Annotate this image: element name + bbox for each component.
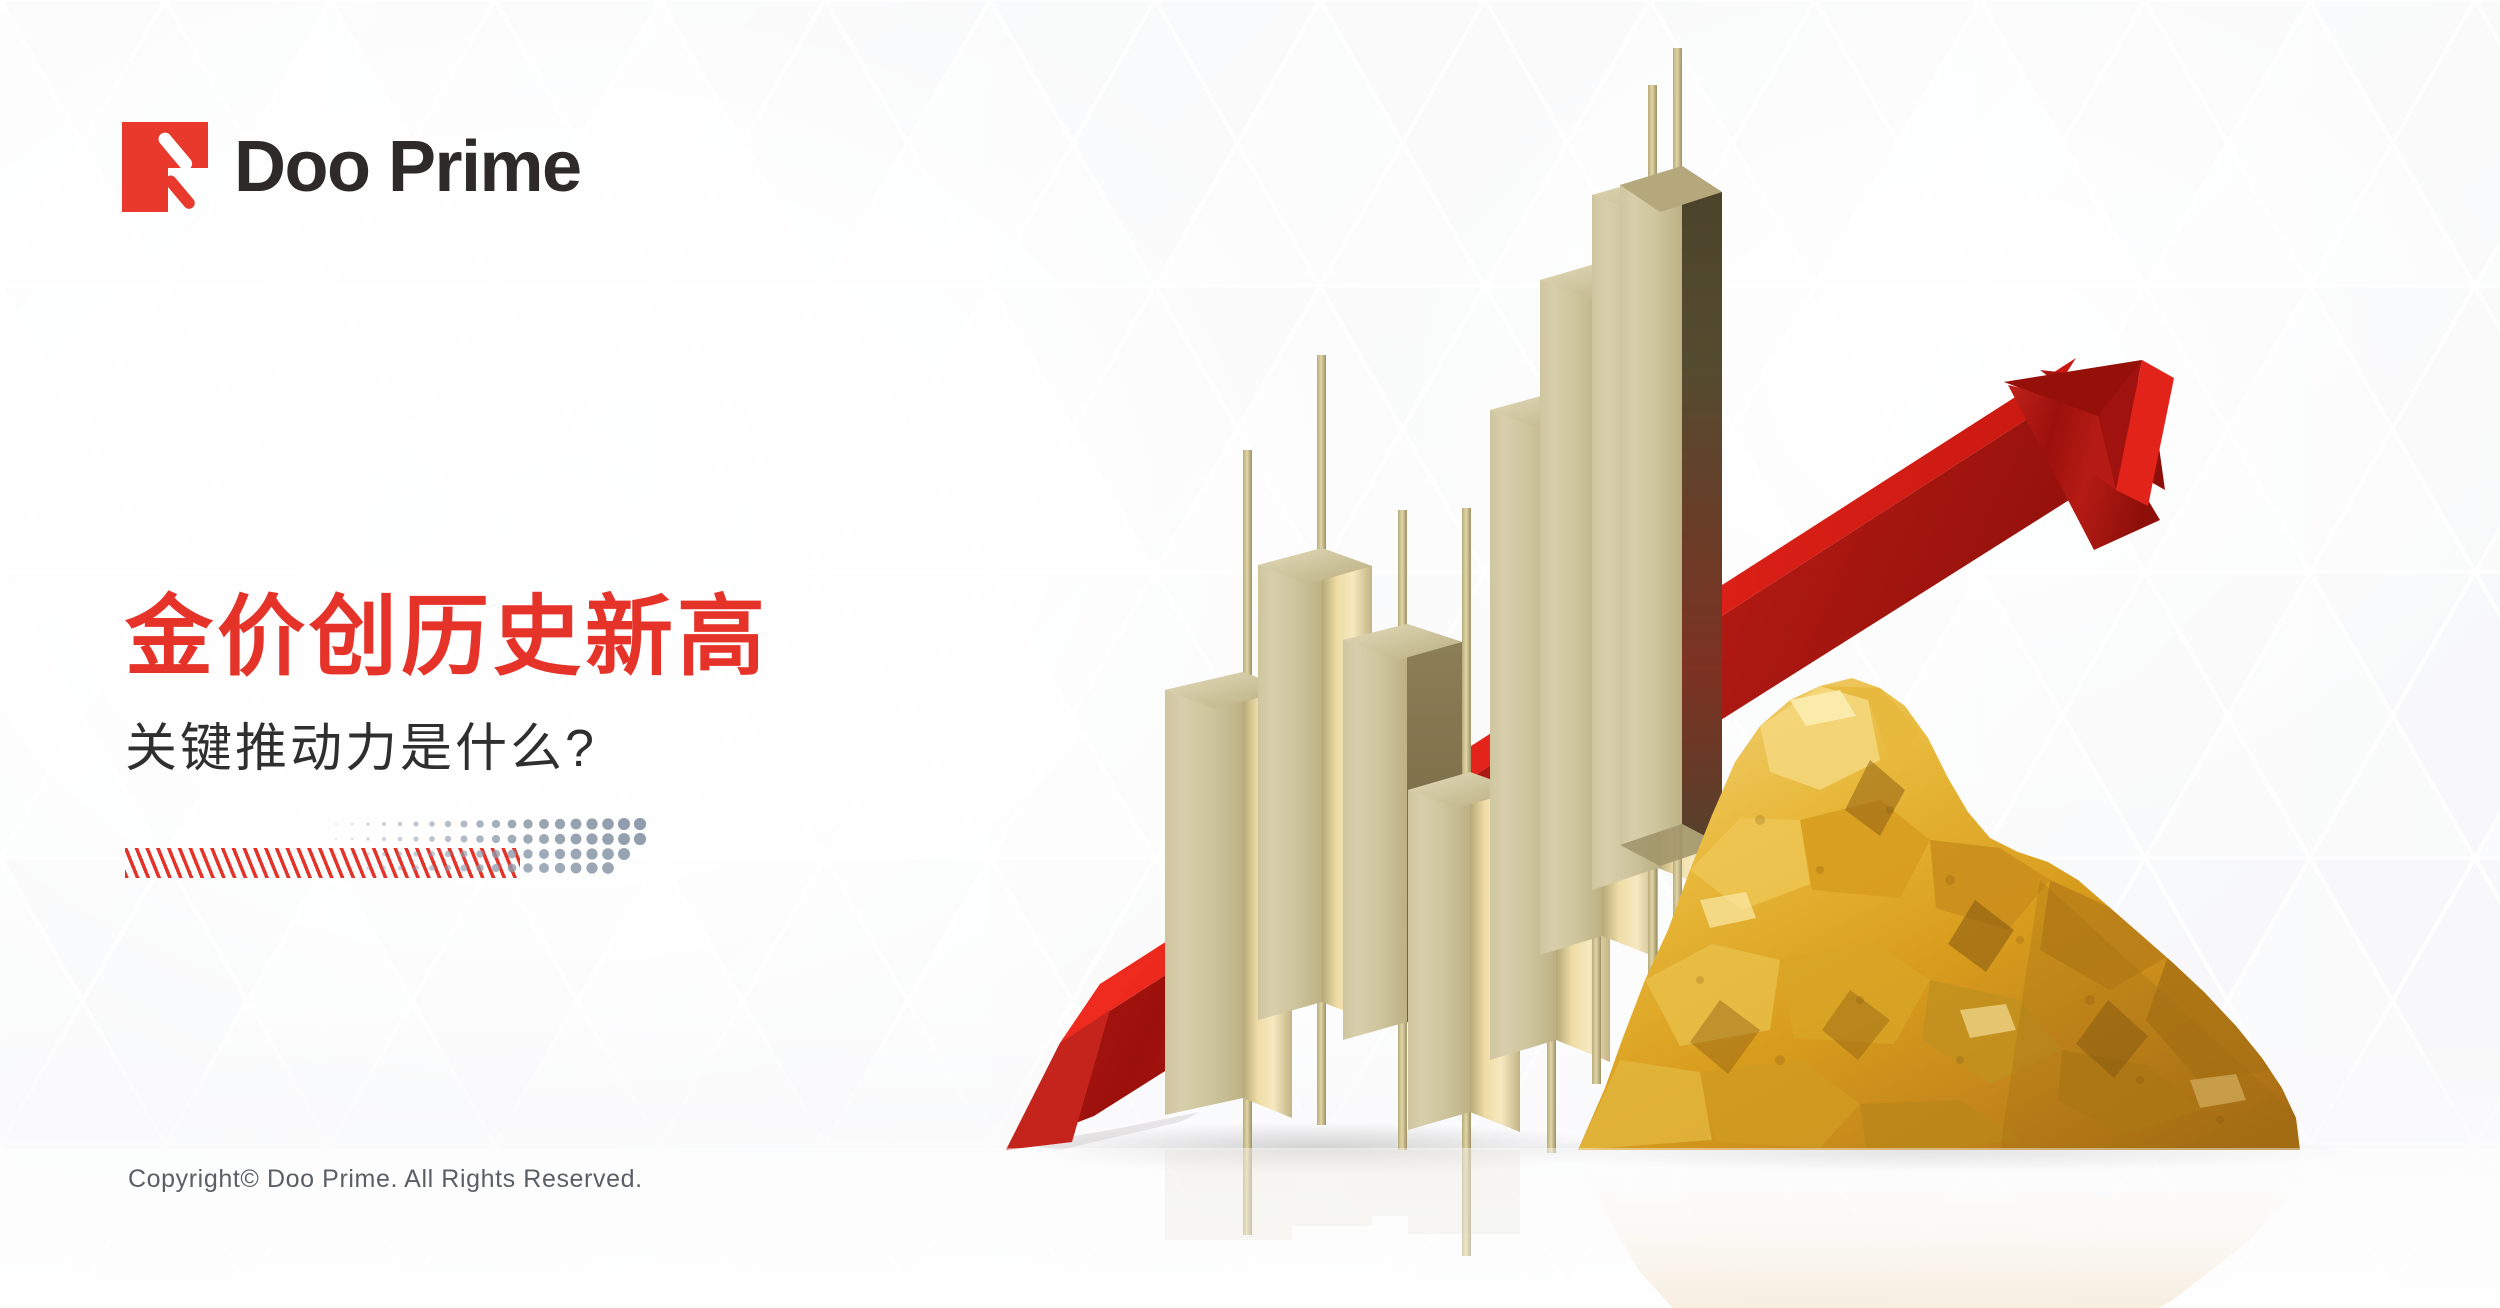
- red-trend-arrow: [1006, 358, 2174, 1150]
- candlestick-8: [1620, 48, 1722, 983]
- background-floor-fade: [0, 1008, 2500, 1308]
- brand-logo[interactable]: Doo Prime: [122, 122, 581, 212]
- candlestick-chart: [1165, 48, 1722, 1256]
- candlestick-6: [1540, 262, 1658, 1084]
- candlestick-4: [1408, 508, 1520, 1256]
- candlestick-2: [1258, 355, 1372, 1125]
- nugget-ground-shadow: [1500, 1132, 2360, 1172]
- gold-nugget: [1578, 678, 2300, 1308]
- candlestick-7: [1592, 85, 1714, 1023]
- copyright-text: Copyright© Doo Prime. All Rights Reserve…: [128, 1165, 643, 1194]
- headline-block: 金价创历史新高 关键推动力是什么?: [125, 590, 1025, 778]
- gray-dot-grid: [330, 818, 665, 874]
- banner-canvas: Doo Prime 金价创历史新高 关键推动力是什么?: [0, 0, 2500, 1308]
- nugget-reflection: [1578, 1152, 2300, 1308]
- page-title: 金价创历史新高: [125, 590, 1025, 683]
- decorative-divider: [125, 818, 665, 882]
- doo-prime-logo-mark-icon: [122, 122, 208, 212]
- candlestick-5: [1490, 392, 1610, 1153]
- candle-floor-reflections: [1165, 1150, 1520, 1240]
- brand-name: Doo Prime: [234, 131, 581, 203]
- candlestick-1: [1165, 450, 1292, 1235]
- candle-ground-shadow: [1020, 1122, 1620, 1174]
- page-subtitle: 关键推动力是什么?: [125, 721, 1025, 778]
- candlestick-3: [1343, 510, 1462, 1150]
